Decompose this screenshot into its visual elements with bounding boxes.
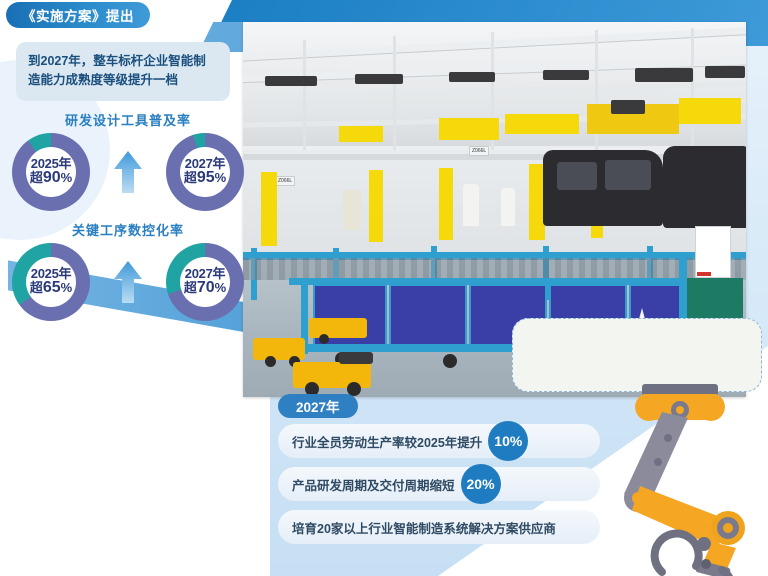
photo-worker xyxy=(501,188,515,226)
list-item: 行业全员劳动生产率较2025年提升 10% xyxy=(278,424,600,458)
infographic-root: Z066L Z066L xyxy=(0,0,768,576)
metric-group-rd-tools: 研发设计工具普及率 2025年 超90% 2027年 xyxy=(12,110,244,211)
donut-label: 2027年 超70% xyxy=(184,267,226,297)
statement-text: 到2027年，整车标杆企业智能制造能力成熟度等级提升一档 xyxy=(28,54,206,87)
metric-row: 2025年 超65% 2027年 超70% xyxy=(12,243,244,321)
photo-yellow-fixture xyxy=(439,118,499,140)
photo-hanger xyxy=(691,28,694,156)
year-pill-2027: 2027年 xyxy=(278,394,358,418)
photo-yellow-fixture xyxy=(505,114,579,134)
photo-shelf-contents xyxy=(243,258,746,280)
metric-group-cnc-rate: 关键工序数控化率 2025年 超65% 2027年 xyxy=(12,220,244,321)
up-arrow-icon xyxy=(113,149,143,195)
photo-dark-part xyxy=(611,100,645,114)
donut-label: 2025年 超90% xyxy=(30,157,72,187)
photo-yellow-column xyxy=(439,168,453,240)
photo-worker xyxy=(343,190,361,230)
donut-year: 2027年 xyxy=(184,267,226,281)
donut-chart-2027-rd: 2027年 超95% xyxy=(166,133,244,211)
photo-conveyor-hook xyxy=(265,76,317,86)
list-item: 培育20家以上行业智能制造系统解决方案供应商 xyxy=(278,510,600,544)
donut-value: 超90% xyxy=(30,170,72,187)
donut-year: 2025年 xyxy=(30,267,72,281)
metric-row: 2025年 超90% 2027年 超95% xyxy=(12,133,244,211)
photo-conveyor-hook xyxy=(705,66,745,78)
year-pill-label: 2027年 xyxy=(296,396,340,416)
targets-list: 行业全员劳动生产率较2025年提升 10% 产品研发周期及交付周期缩短 20% … xyxy=(278,424,600,553)
photo-station-label: Z066L xyxy=(275,176,295,186)
statement-box: 到2027年，整车标杆企业智能制造能力成熟度等级提升一档 xyxy=(16,42,230,101)
photo-caster xyxy=(443,354,457,368)
photo-conveyor-hook xyxy=(635,68,693,82)
placeholder-card xyxy=(512,318,762,392)
photo-safety-sign xyxy=(695,226,731,278)
donut-year: 2027年 xyxy=(184,157,226,171)
photo-agv-wheel xyxy=(319,334,329,344)
donut-chart-2027-cnc: 2027年 超70% xyxy=(166,243,244,321)
list-item: 产品研发周期及交付周期缩短 20% xyxy=(278,467,600,501)
photo-conveyor-hook xyxy=(449,72,495,82)
photo-station-label: Z066L xyxy=(469,146,489,156)
donut-label: 2025年 超65% xyxy=(30,267,72,297)
photo-yellow-column xyxy=(369,170,383,242)
photo-hanger xyxy=(303,40,306,152)
photo-cart-panel xyxy=(389,284,467,346)
photo-yellow-fixture xyxy=(339,126,383,142)
donut-value: 超65% xyxy=(30,280,72,297)
metric-group-title: 关键工序数控化率 xyxy=(12,220,244,239)
photo-conveyor-hook xyxy=(543,70,589,80)
donut-value: 超70% xyxy=(184,280,226,297)
photo-conveyor-hook xyxy=(355,74,403,84)
robot-arm-icon xyxy=(600,382,768,576)
donut-label: 2027年 超95% xyxy=(184,157,226,187)
donut-year: 2025年 xyxy=(30,157,72,171)
list-item-text: 培育20家以上行业智能制造系统解决方案供应商 xyxy=(292,518,556,537)
title-pill: 《实施方案》提出 xyxy=(6,2,150,28)
metric-group-title: 研发设计工具普及率 xyxy=(12,110,244,129)
donut-value: 超95% xyxy=(184,170,226,187)
status-badge: 10% xyxy=(488,421,528,461)
photo-hanger xyxy=(393,36,396,154)
photo-yellow-column xyxy=(261,172,277,246)
list-item-text: 行业全员劳动生产率较2025年提升 xyxy=(292,432,482,451)
photo-car-body xyxy=(663,146,746,228)
donut-chart-2025-rd: 2025年 超90% xyxy=(12,133,90,211)
up-arrow-icon xyxy=(113,259,143,305)
photo-worker xyxy=(463,184,479,226)
photo-yellow-fixture xyxy=(679,98,741,124)
photo-agv-tower xyxy=(339,352,373,364)
status-badge: 20% xyxy=(461,464,501,504)
list-item-text: 产品研发周期及交付周期缩短 xyxy=(292,475,455,494)
title-pill-label: 《实施方案》提出 xyxy=(22,5,134,25)
photo-agv xyxy=(309,318,367,338)
donut-chart-2025-cnc: 2025年 超65% xyxy=(12,243,90,321)
photo-car-window xyxy=(605,160,651,190)
photo-hanger xyxy=(595,30,598,156)
photo-car-window xyxy=(557,162,597,190)
photo-agv-wheel xyxy=(265,356,276,367)
